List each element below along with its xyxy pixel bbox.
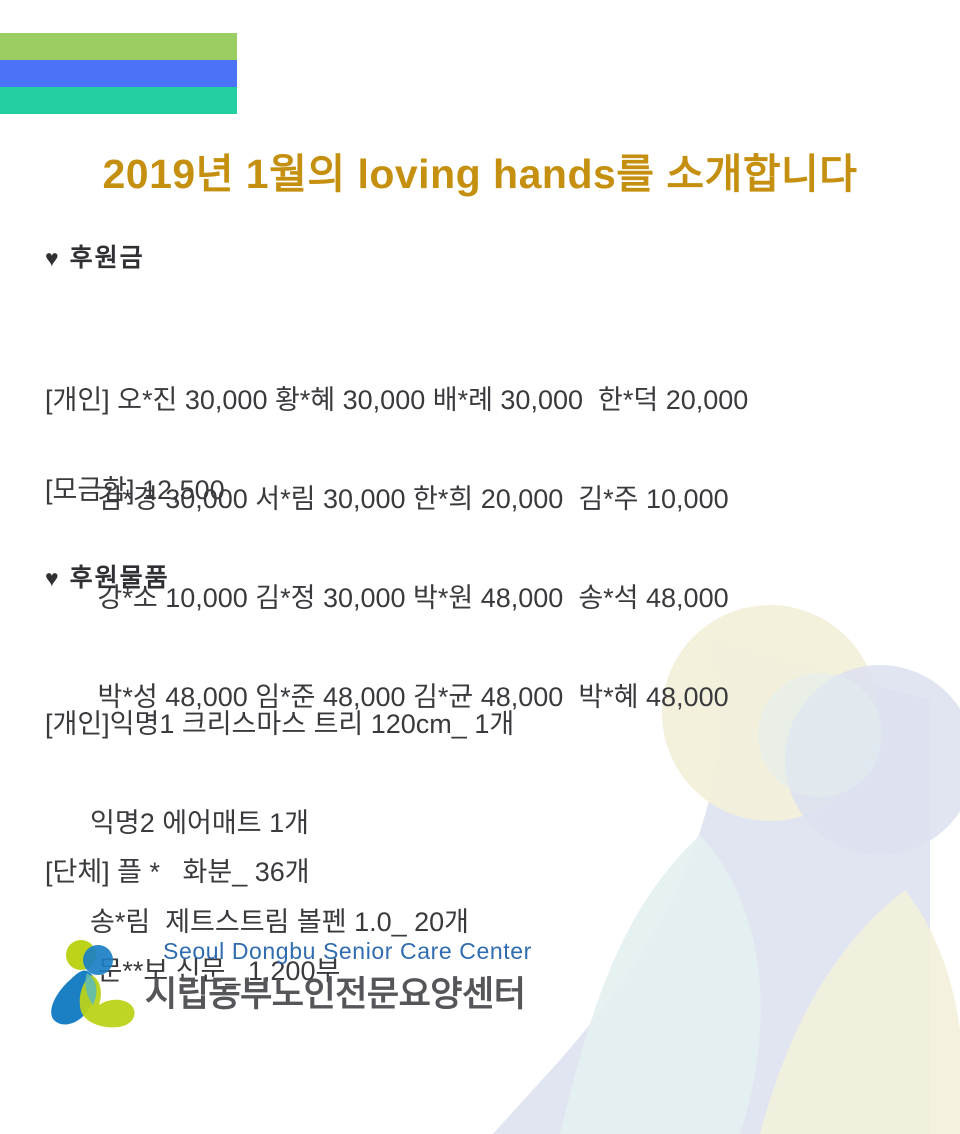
poster-page: 2019년 1월의 loving hands를 소개합니다 ♥후원금 [개인] …	[0, 0, 960, 1134]
donation-row: [개인] 오*진 30,000 황*혜 30,000 배*례 30,000 한*…	[45, 384, 748, 417]
logo-korean-name: 시립동부노인전문요양센터	[145, 966, 545, 1017]
blue-bar	[0, 60, 237, 87]
goods-row: [단체] 플 * 화분_ 36개	[45, 856, 340, 889]
logo-mark-icon	[45, 935, 145, 1035]
collection-box-row: [모금함] 12,500	[45, 474, 225, 507]
decor-circle-lavender	[785, 665, 960, 855]
heart-icon: ♥	[45, 245, 61, 271]
heart-icon: ♥	[45, 565, 61, 591]
section-heading-goods-label: 후원물품	[70, 564, 170, 592]
decor-petal-teal	[560, 835, 761, 1134]
goods-row: [개인]익명1 크리스마스 트리 120cm_ 1개	[45, 708, 514, 741]
decor-circle-teal	[758, 673, 882, 797]
organization-logo: Seoul Dongbu Senior Care Center 시립동부노인전문…	[45, 930, 515, 1035]
page-title: 2019년 1월의 loving hands를 소개합니다	[0, 140, 960, 200]
section-heading-donations: ♥후원금	[45, 238, 145, 274]
logo-text: Seoul Dongbu Senior Care Center 시립동부노인전문…	[145, 938, 545, 1017]
teal-bar	[0, 87, 237, 114]
decor-wedge-yellow	[760, 890, 960, 1134]
logo-head-blue	[83, 945, 113, 975]
header-color-bars	[0, 33, 237, 114]
section-heading-goods: ♥후원물품	[45, 558, 170, 594]
logo-english-name: Seoul Dongbu Senior Care Center	[145, 938, 545, 965]
section-heading-donations-label: 후원금	[70, 244, 145, 272]
green-bar	[0, 33, 237, 60]
